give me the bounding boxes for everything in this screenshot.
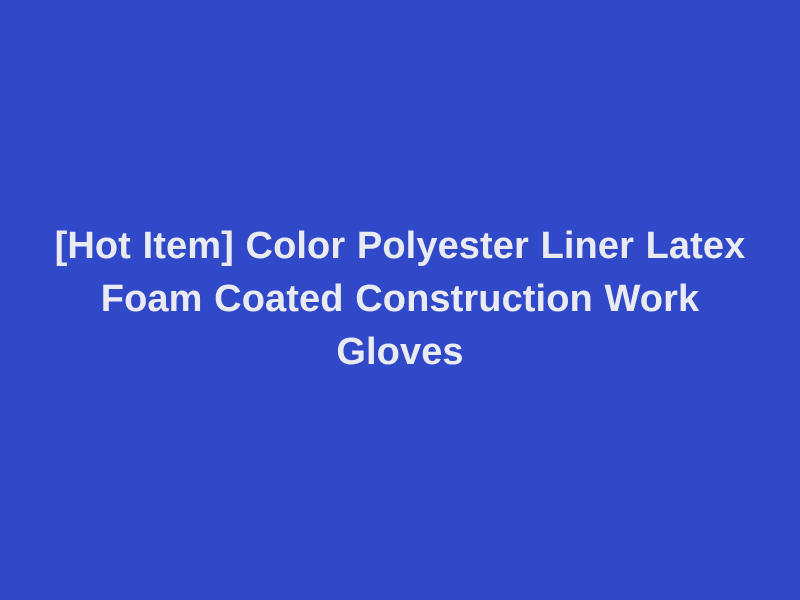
product-title: [Hot Item] Color Polyester Liner Latex F…	[50, 220, 750, 379]
title-block: [Hot Item] Color Polyester Liner Latex F…	[40, 220, 760, 379]
product-placeholder-card: [Hot Item] Color Polyester Liner Latex F…	[0, 0, 800, 600]
